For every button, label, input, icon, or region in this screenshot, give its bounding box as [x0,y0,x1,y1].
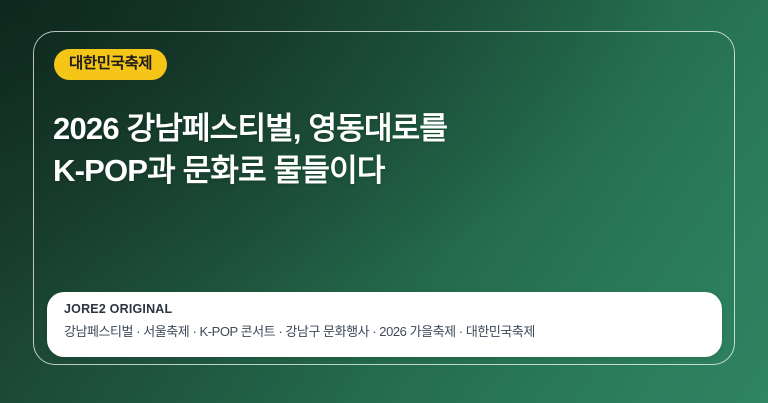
keyword-list: 강남페스티벌 · 서울축제 · K-POP 콘서트 · 강남구 문화행사 · 2… [64,324,706,340]
footer-info-card: JORE2 ORIGINAL 강남페스티벌 · 서울축제 · K-POP 콘서트… [47,292,722,357]
brand-label: JORE2 ORIGINAL [64,302,706,317]
title-line-1: 2026 강남페스티벌, 영동대로를 [53,108,447,150]
banner-title: 2026 강남페스티벌, 영동대로를 K-POP과 문화로 물들이다 [53,108,447,192]
category-badge: 대한민국축제 [54,49,167,80]
banner-content: 대한민국축제 2026 강남페스티벌, 영동대로를 K-POP과 문화로 물들이… [0,0,768,403]
festival-promo-banner: 대한민국축제 2026 강남페스티벌, 영동대로를 K-POP과 문화로 물들이… [0,0,768,403]
title-line-2: K-POP과 문화로 물들이다 [53,150,447,192]
